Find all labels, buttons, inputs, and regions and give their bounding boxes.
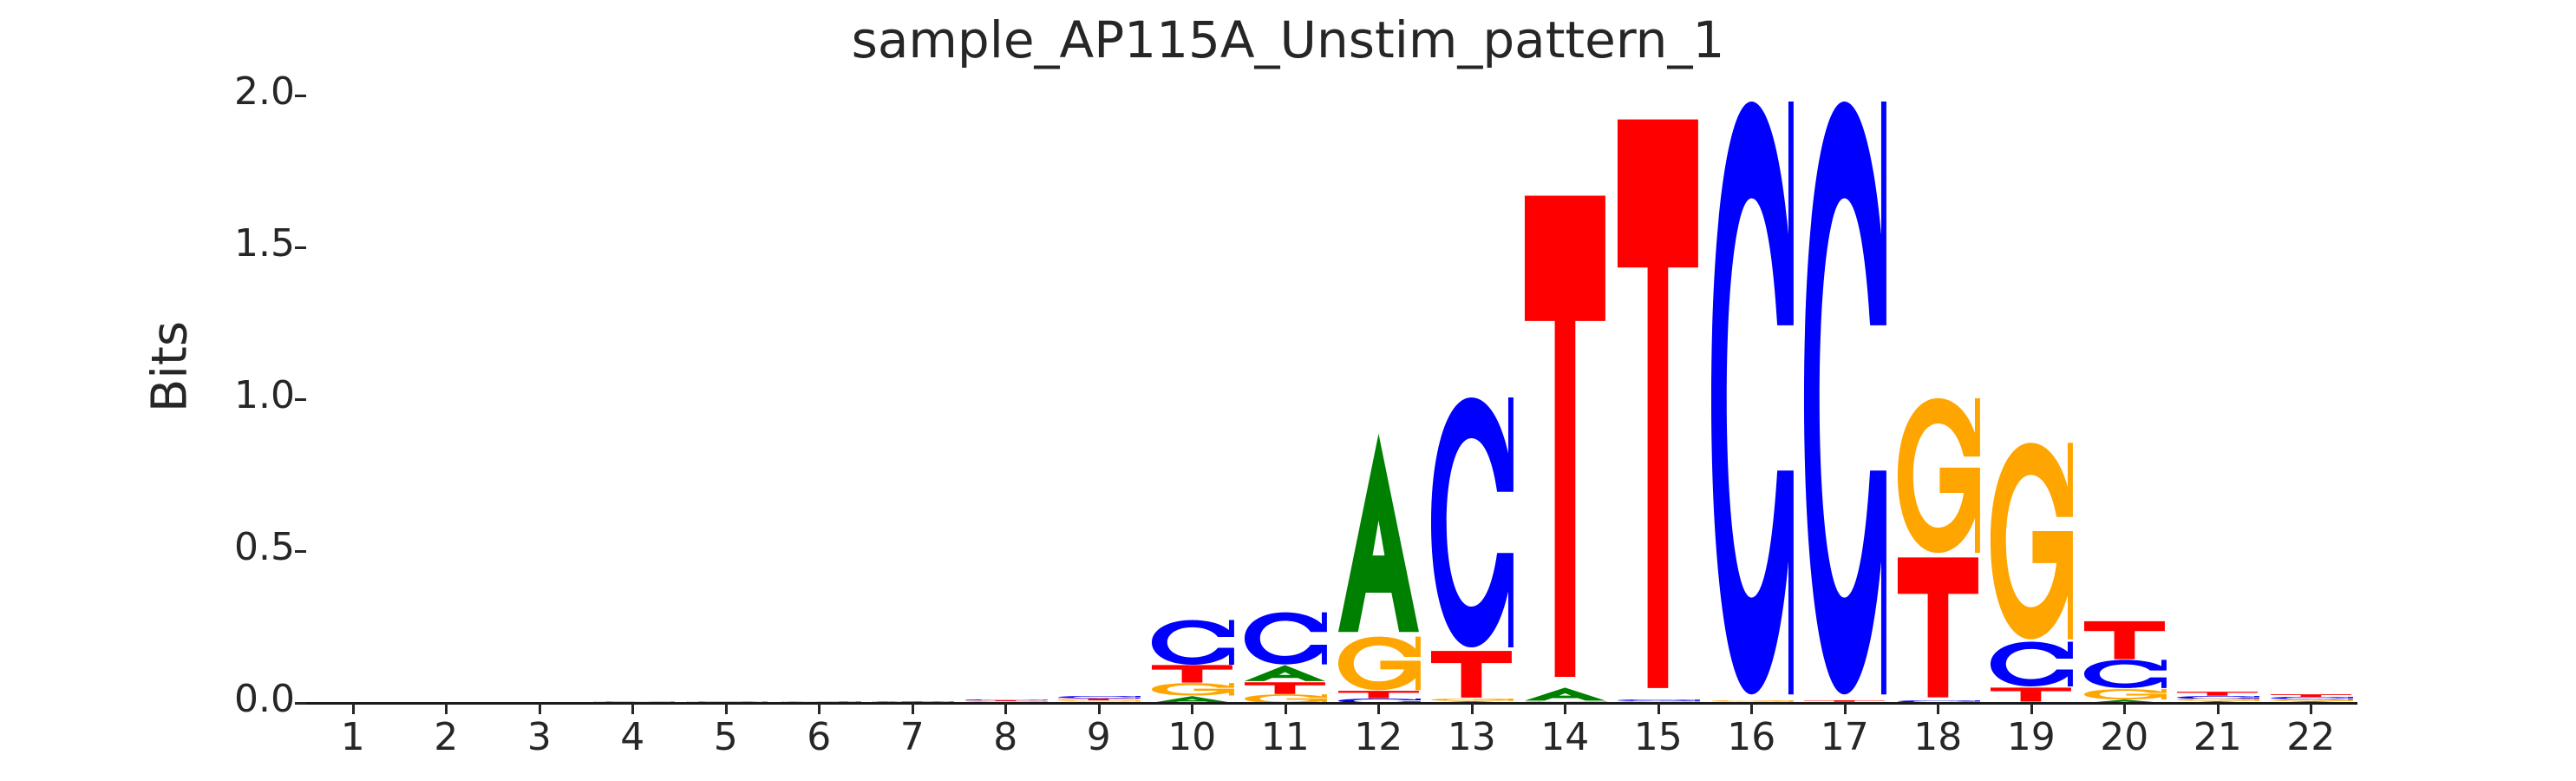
- x-axis-tick-label: 16: [1699, 715, 1803, 759]
- logo-letter-C: [1242, 612, 1328, 665]
- x-axis-tick-mark: [539, 703, 541, 714]
- x-axis-tick-label: 15: [1606, 715, 1710, 759]
- logo-letter-T: [1895, 555, 1981, 700]
- x-axis-tick-mark: [1285, 703, 1287, 714]
- x-axis-tick-mark: [2310, 703, 2312, 714]
- x-axis-tick-label: 17: [1793, 715, 1897, 759]
- x-axis-tick-mark: [1191, 703, 1193, 714]
- x-axis-tick-mark: [1657, 703, 1660, 714]
- x-axis-tick-label: 3: [487, 715, 592, 759]
- x-axis-tick-label: 1: [301, 715, 405, 759]
- x-axis-tick-mark: [352, 703, 355, 714]
- x-axis-tick-mark: [1004, 703, 1007, 714]
- page-title: sample_AP115A_Unstim_pattern_1: [0, 10, 2576, 69]
- x-axis-tick-label: 13: [1420, 715, 1524, 759]
- logo-stack: [2082, 620, 2167, 703]
- logo-letter-C: [1801, 95, 1887, 700]
- logo-stack: [1522, 186, 1608, 703]
- logo-stack: [1336, 430, 1422, 703]
- logo-letter-G: [1336, 636, 1422, 691]
- logo-stack: [1895, 397, 1981, 704]
- logo-letter-A: [1336, 430, 1422, 636]
- logo-letter-T: [1242, 682, 1328, 694]
- logo-letter-G: [2082, 689, 2167, 699]
- x-axis-tick-mark: [1098, 703, 1101, 714]
- logo-stack: [1988, 441, 2074, 703]
- y-axis-tick-label: 1.5: [173, 221, 295, 266]
- logo-letter-T: [1429, 650, 1514, 699]
- y-axis-tick-label: 1.0: [173, 373, 295, 417]
- x-axis-tick-label: 22: [2259, 715, 2363, 759]
- x-axis-tick-label: 14: [1513, 715, 1617, 759]
- logo-letter-C: [1429, 395, 1514, 650]
- x-axis-tick-label: 6: [767, 715, 871, 759]
- logo-stack: [1242, 612, 1328, 703]
- logo-stack: [2174, 692, 2260, 703]
- logo-letter-T: [1522, 186, 1608, 687]
- logo-letter-G: [1895, 397, 1981, 555]
- x-axis-tick-mark: [631, 703, 634, 714]
- x-axis-tick-label: 21: [2166, 715, 2270, 759]
- x-axis-tick-mark: [725, 703, 728, 714]
- y-axis-tick-label: 2.0: [173, 69, 295, 114]
- logo-letter-C: [1149, 620, 1235, 666]
- x-axis-tick-label: 9: [1047, 715, 1151, 759]
- x-axis-tick-label: 18: [1886, 715, 1990, 759]
- x-axis-tick-mark: [2217, 703, 2220, 714]
- logo-letter-G: [1988, 441, 2074, 641]
- x-axis-tick-mark: [2030, 703, 2033, 714]
- x-axis-tick-mark: [912, 703, 914, 714]
- x-axis-tick-label: 12: [1326, 715, 1430, 759]
- logo-letter-A: [1242, 665, 1328, 681]
- y-axis-tick-mark: [295, 550, 306, 553]
- x-axis-tick-label: 7: [860, 715, 964, 759]
- x-axis-tick-label: 11: [1233, 715, 1337, 759]
- x-axis-baseline: [306, 702, 2357, 705]
- x-axis-tick-mark: [1377, 703, 1380, 714]
- x-axis-tick-mark: [2123, 703, 2126, 714]
- x-axis-tick-mark: [1750, 703, 1753, 714]
- logo-letter-C: [1709, 95, 1795, 700]
- x-axis-tick-mark: [445, 703, 448, 714]
- x-axis-tick-label: 4: [580, 715, 684, 759]
- logo-letter-T: [1988, 687, 2074, 702]
- x-axis-tick-mark: [1937, 703, 1939, 714]
- x-axis-tick-label: 2: [394, 715, 498, 759]
- x-axis-tick-mark: [1471, 703, 1474, 714]
- logo-letter-C: [1988, 641, 2074, 687]
- logo-stack: [1615, 108, 1701, 703]
- logo-letter-C: [2082, 660, 2167, 688]
- sequence-logo-figure: sample_AP115A_Unstim_pattern_1 Bits 0.00…: [0, 0, 2576, 781]
- logo-letter-T: [1615, 108, 1701, 700]
- logo-letter-T: [2082, 620, 2167, 660]
- y-axis-tick-mark: [295, 702, 306, 705]
- y-axis-tick-mark: [295, 398, 306, 401]
- x-axis-tick-mark: [818, 703, 821, 714]
- logo-letter-G: [1149, 683, 1235, 696]
- y-axis-tick-label: 0.0: [173, 677, 295, 721]
- y-axis-tick-mark: [295, 246, 306, 249]
- logo-letter-T: [1336, 691, 1422, 699]
- logo-letter-A: [1522, 687, 1608, 701]
- logo-stack: [1149, 620, 1235, 703]
- x-axis-tick-label: 5: [674, 715, 778, 759]
- logo-stack: [1709, 95, 1795, 703]
- logo-stack: [1429, 395, 1514, 703]
- x-axis-tick-label: 19: [1979, 715, 2083, 759]
- logo-stack: [1801, 95, 1887, 703]
- y-axis-tick-mark: [295, 95, 306, 97]
- plot-area: [306, 95, 2357, 703]
- x-axis-tick-label: 8: [953, 715, 1057, 759]
- logo-letter-T: [1149, 665, 1235, 683]
- x-axis-tick-mark: [1564, 703, 1566, 714]
- x-axis-tick-mark: [1844, 703, 1847, 714]
- y-axis-tick-label: 0.5: [173, 525, 295, 569]
- x-axis-tick-label: 20: [2072, 715, 2176, 759]
- y-axis-tick-labels: 0.00.51.01.52.0: [165, 0, 295, 781]
- x-axis-tick-label: 10: [1140, 715, 1244, 759]
